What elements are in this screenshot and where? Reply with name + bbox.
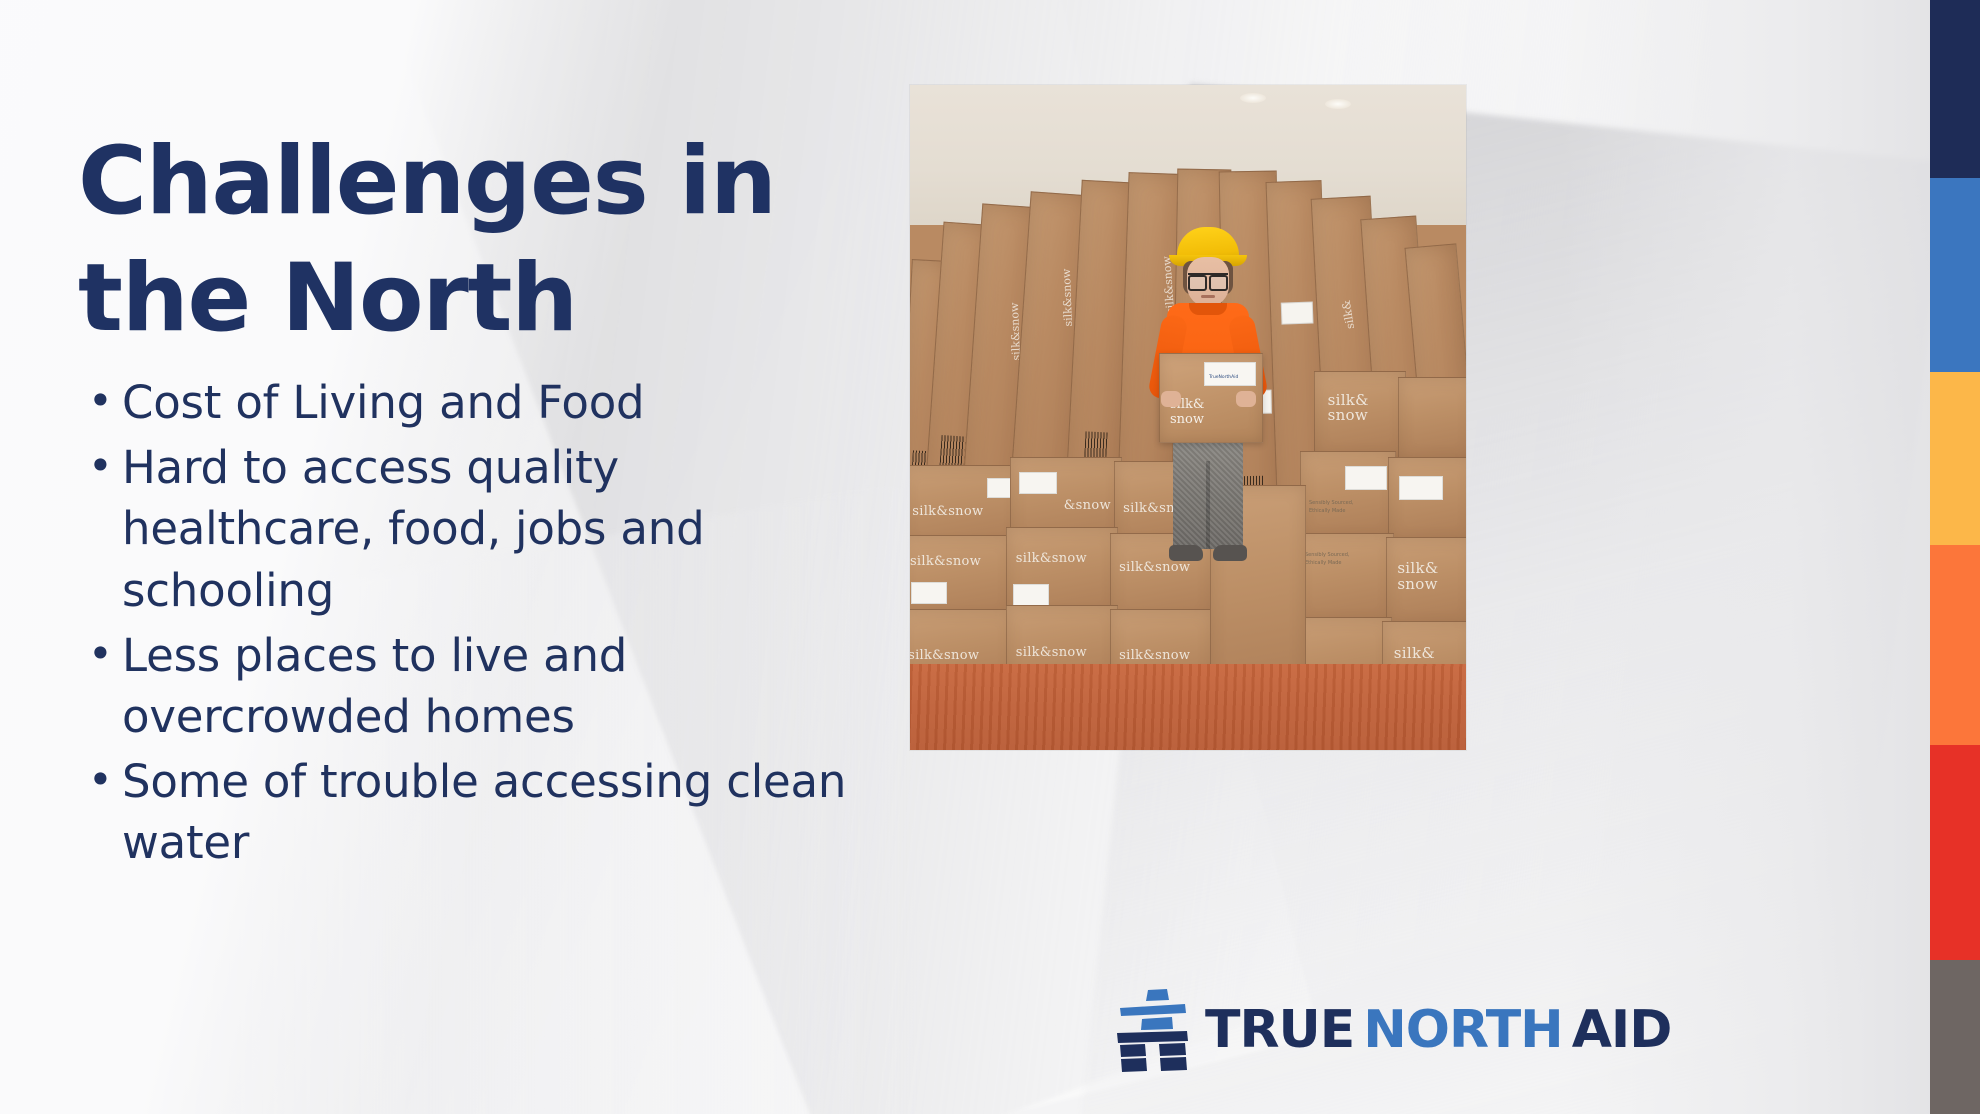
- box-brand-label: silk&snow: [910, 554, 981, 569]
- inukshuk-icon: [1115, 988, 1191, 1072]
- logo-word-north: NORTH: [1363, 1004, 1562, 1056]
- small-box: Sensibly Sourced,Ethically Made: [1300, 451, 1396, 541]
- box-brand-label: silk&snow: [1397, 561, 1438, 593]
- slide-canvas: Challenges in the North • Cost of Living…: [0, 0, 1980, 1114]
- page-title: Challenges in the North: [78, 124, 878, 357]
- list-item: • Hard to access quality healthcare, foo…: [88, 437, 878, 621]
- box-brand-label: &snow: [1064, 498, 1111, 513]
- box-brand-label: silk&snow: [1016, 551, 1087, 566]
- box-shipping-sticker: TrueNorthAid: [1204, 362, 1256, 386]
- list-item-label: Hard to access quality healthcare, food,…: [122, 437, 878, 621]
- donation-boxes-photo: silk&snow silk&snow silk&snow silk&: [910, 85, 1466, 750]
- true-north-aid-logo[interactable]: TRUE NORTH AID: [1115, 988, 1671, 1072]
- brand-color-strip: [1930, 0, 1980, 1114]
- glasses-icon: [1188, 273, 1228, 286]
- box-brand-label: silk&snow: [1119, 560, 1190, 575]
- box-brand-label: silk&snow: [910, 648, 979, 663]
- hand-left: [1161, 391, 1181, 407]
- list-item: • Less places to live and overcrowded ho…: [88, 625, 878, 747]
- logo-word-aid: AID: [1572, 1004, 1672, 1056]
- list-item-label: Some of trouble accessing clean water: [122, 751, 878, 873]
- small-box: silk&snow: [1386, 537, 1466, 627]
- bullet-marker-icon: •: [88, 625, 122, 682]
- color-band-amber: [1930, 372, 1980, 545]
- list-item: • Some of trouble accessing clean water: [88, 751, 878, 873]
- shirt-collar: [1189, 303, 1227, 315]
- list-item: • Cost of Living and Food: [88, 372, 878, 433]
- color-band-red: [1930, 745, 1980, 960]
- color-band-gray: [1930, 960, 1980, 1114]
- ceiling-light-icon: [1240, 93, 1266, 103]
- box-brand-label: silk&snow: [912, 504, 983, 519]
- photo-floor-texture: [910, 664, 1466, 750]
- color-band-blue: [1930, 178, 1980, 372]
- background-right-fade: [1560, 0, 1980, 1114]
- hand-right: [1236, 391, 1256, 407]
- small-box: [1398, 377, 1466, 461]
- mouth: [1201, 295, 1215, 298]
- challenges-bullet-list: • Cost of Living and Food • Hard to acce…: [88, 372, 878, 878]
- small-box: [1388, 457, 1466, 543]
- box-brand-label: silk&snow: [1328, 393, 1369, 425]
- shoe-right: [1213, 545, 1247, 561]
- bullet-marker-icon: •: [88, 372, 122, 429]
- pants-texture: [1173, 427, 1243, 549]
- box-brand-label: silk&snow: [1119, 648, 1190, 663]
- list-item-label: Cost of Living and Food: [122, 372, 878, 433]
- shoe-left: [1169, 545, 1203, 561]
- list-item-label: Less places to live and overcrowded home…: [122, 625, 878, 747]
- color-band-orange: [1930, 545, 1980, 745]
- bullet-marker-icon: •: [88, 751, 122, 808]
- bullet-marker-icon: •: [88, 437, 122, 494]
- small-box: silk&snow: [1314, 371, 1406, 459]
- ceiling-light-icon: [1325, 99, 1351, 109]
- color-band-navy: [1930, 0, 1980, 178]
- logo-wordmark: TRUE NORTH AID: [1205, 1004, 1671, 1056]
- logo-word-true: TRUE: [1205, 1004, 1354, 1056]
- small-box: Sensibly Sourced,Ethically Made: [1296, 533, 1394, 625]
- box-brand-label: silk&snow: [1016, 645, 1087, 660]
